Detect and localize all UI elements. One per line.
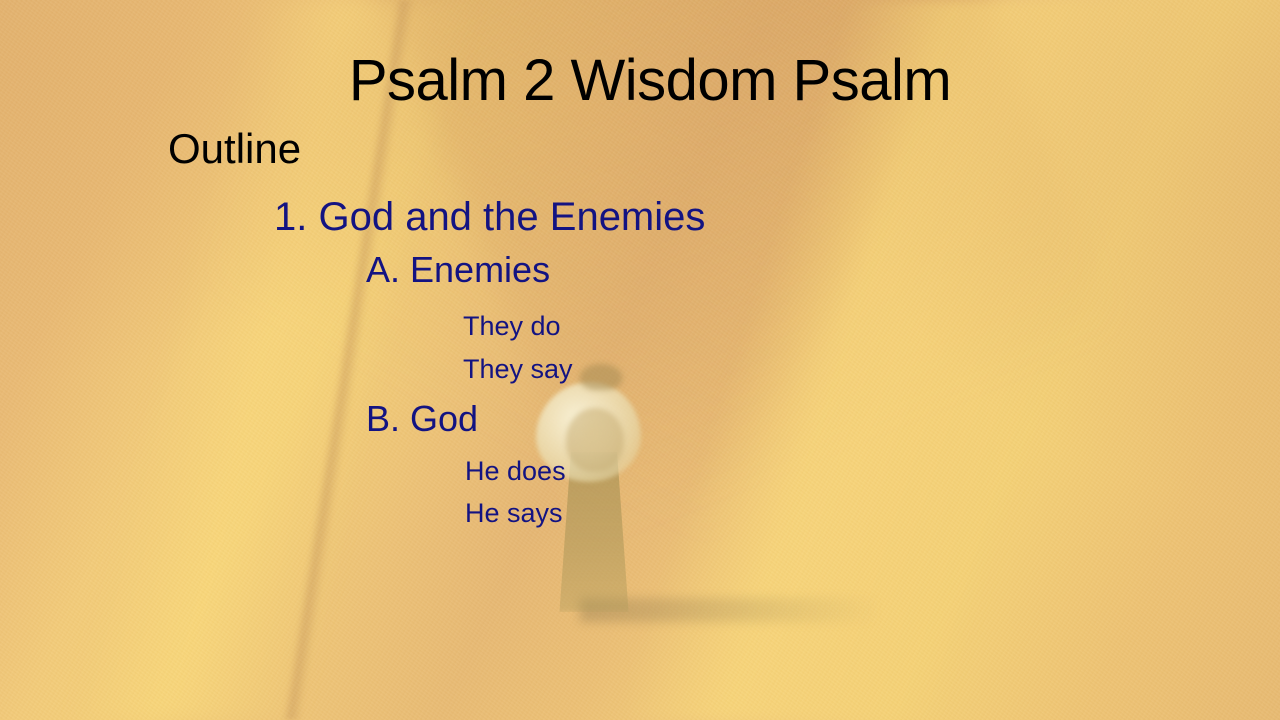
outline-item-he-does: He does — [465, 458, 566, 485]
slide-title: Psalm 2 Wisdom Psalm — [0, 52, 1280, 110]
background-figure-artwork — [520, 360, 710, 630]
outline-item-enemies: A. Enemies — [366, 252, 550, 288]
figure-shadow — [580, 598, 880, 622]
presentation-slide: Psalm 2 Wisdom Psalm Outline 1. God and … — [0, 0, 1280, 720]
outline-item-god: B. God — [366, 401, 478, 437]
figure-cap — [580, 364, 622, 390]
outline-item-god-and-the-enemies: 1. God and the Enemies — [274, 197, 705, 237]
outline-heading: Outline — [168, 128, 301, 170]
outline-item-they-say: They say — [463, 356, 573, 383]
outline-item-he-says: He says — [465, 500, 563, 527]
outline-item-they-do: They do — [463, 313, 561, 340]
figure-face — [566, 408, 624, 472]
